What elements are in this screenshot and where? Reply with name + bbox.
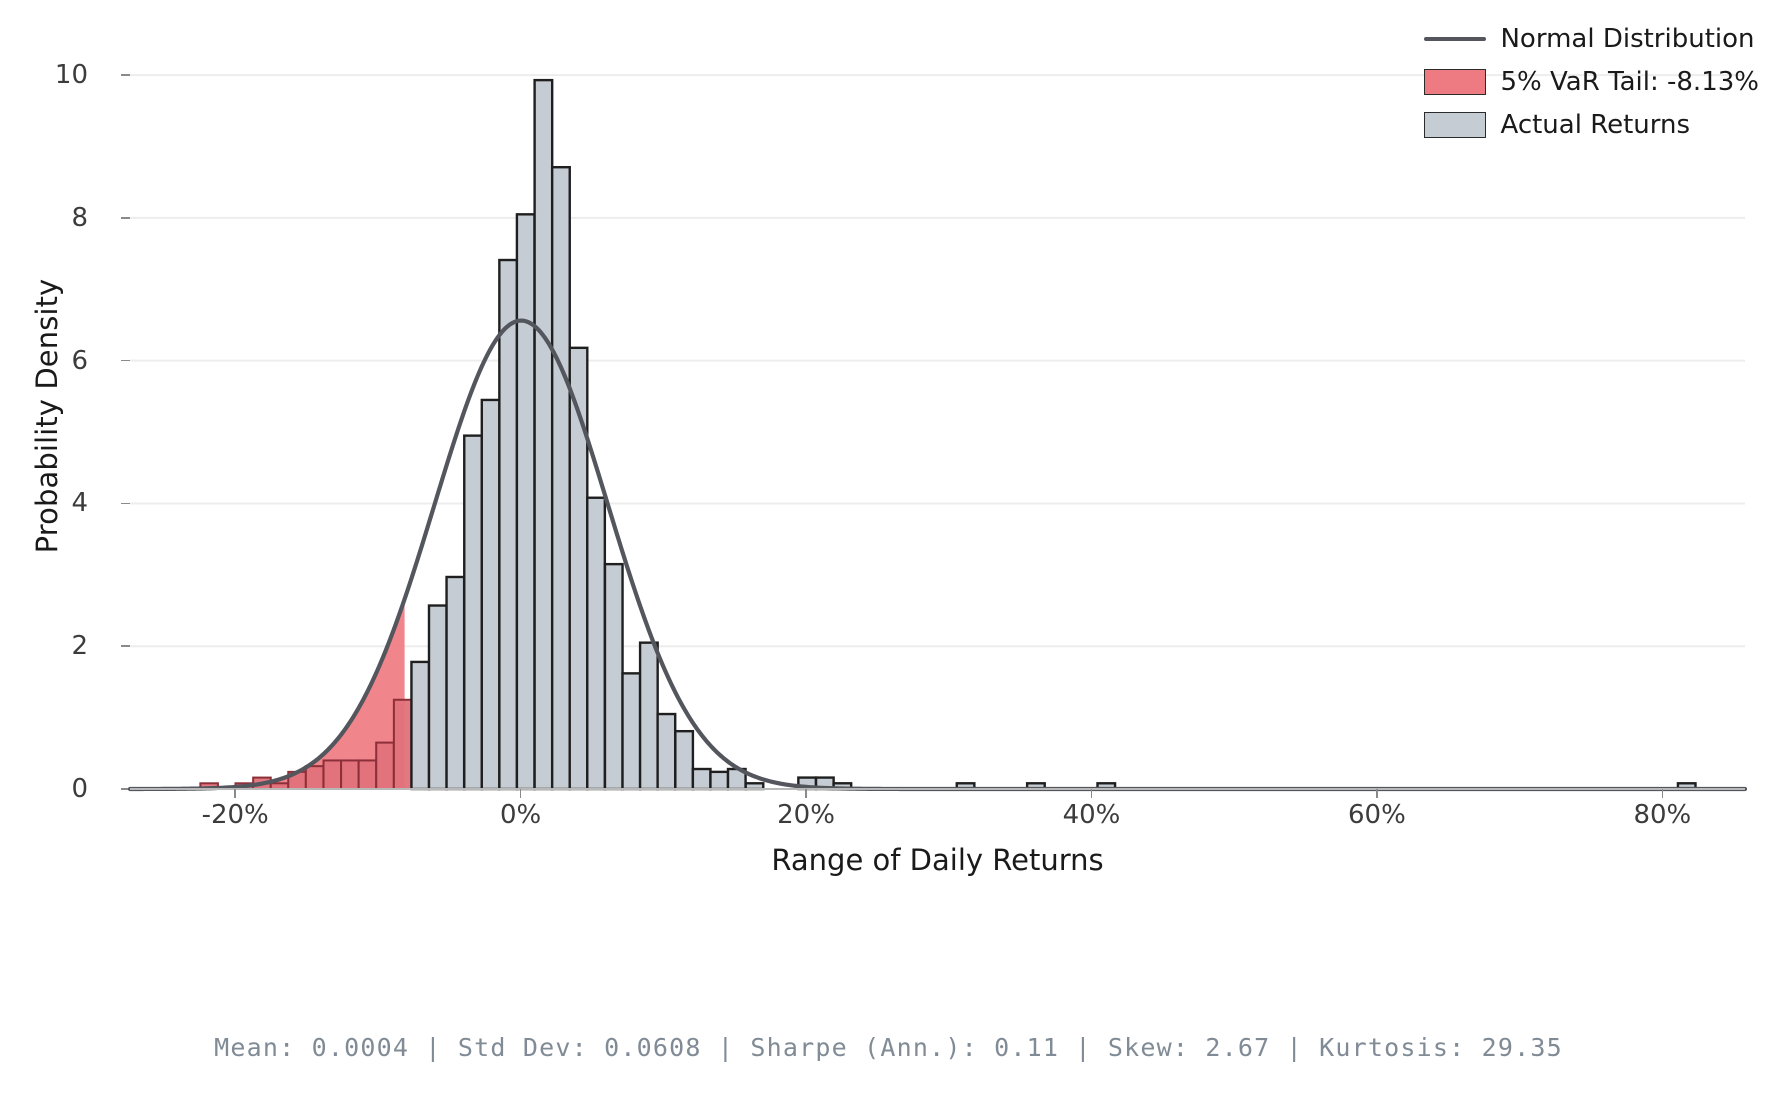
plot-svg (130, 43, 1745, 789)
x-tick-label: 80% (1592, 800, 1732, 830)
x-tick-mark (805, 789, 807, 798)
y-tick-mark (121, 74, 130, 76)
histogram-bar (447, 577, 465, 789)
y-axis-title: Probability Density (30, 43, 64, 789)
x-tick-mark (520, 789, 522, 798)
legend-line-icon (1424, 26, 1486, 52)
x-axis-baseline (130, 788, 1745, 790)
histogram-bar (482, 400, 500, 789)
histogram-bar (605, 564, 623, 789)
histogram-bar (376, 743, 394, 789)
histogram-bars (200, 80, 1695, 789)
y-tick-label: 6 (28, 346, 88, 376)
histogram-bar (464, 436, 482, 789)
histogram-bar (535, 80, 553, 789)
legend-item-label: Normal Distribution (1500, 24, 1754, 54)
x-tick-mark (234, 789, 236, 798)
histogram-bar (693, 769, 711, 789)
x-tick-label: -20% (165, 800, 305, 830)
x-tick-label: 20% (736, 800, 876, 830)
histogram-bar (306, 766, 324, 789)
legend-item[interactable]: 5% VaR Tail: -8.13% (1424, 65, 1759, 99)
y-tick-label: 10 (28, 60, 88, 90)
histogram-bar (341, 760, 359, 789)
legend-item-label: Actual Returns (1500, 110, 1690, 140)
plot-area (130, 43, 1745, 789)
histogram-bar (517, 214, 535, 789)
x-tick-label: 0% (451, 800, 591, 830)
legend-item[interactable]: Actual Returns (1424, 108, 1690, 142)
x-tick-mark (1662, 789, 1664, 798)
histogram-bar (324, 760, 342, 789)
y-tick-label: 0 (28, 774, 88, 804)
legend-item-label: 5% VaR Tail: -8.13% (1500, 67, 1759, 97)
y-tick-label: 8 (28, 203, 88, 233)
histogram-bar (359, 760, 377, 789)
legend-color-swatch (1424, 69, 1486, 95)
x-tick-mark (1091, 789, 1093, 798)
chart-figure: Probability Density 0246810 -20%0%20%40%… (0, 0, 1777, 1105)
histogram-bar (394, 700, 412, 789)
y-tick-mark (121, 217, 130, 219)
histogram-bar (623, 673, 641, 789)
x-axis-title: Range of Daily Returns (130, 843, 1745, 877)
statistics-footer: Mean: 0.0004 | Std Dev: 0.0608 | Sharpe … (0, 1033, 1777, 1062)
chart-legend[interactable]: Normal Distribution5% VaR Tail: -8.13%Ac… (1424, 22, 1759, 142)
histogram-bar (429, 606, 447, 789)
x-tick-label: 60% (1307, 800, 1447, 830)
histogram-bar (710, 772, 728, 789)
legend-item[interactable]: Normal Distribution (1424, 22, 1754, 56)
y-tick-label: 4 (28, 488, 88, 518)
histogram-bar (640, 643, 658, 789)
histogram-bar (499, 260, 517, 789)
y-tick-mark (121, 645, 130, 647)
x-tick-mark (1376, 789, 1378, 798)
histogram-bar (552, 167, 570, 789)
histogram-bar (411, 662, 429, 789)
histogram-bar (675, 731, 693, 789)
histogram-bar (658, 714, 676, 789)
y-tick-label: 2 (28, 631, 88, 661)
legend-color-swatch (1424, 112, 1486, 138)
y-tick-mark (121, 503, 130, 505)
x-tick-label: 40% (1021, 800, 1161, 830)
histogram-bar (587, 498, 605, 789)
y-tick-mark (121, 360, 130, 362)
